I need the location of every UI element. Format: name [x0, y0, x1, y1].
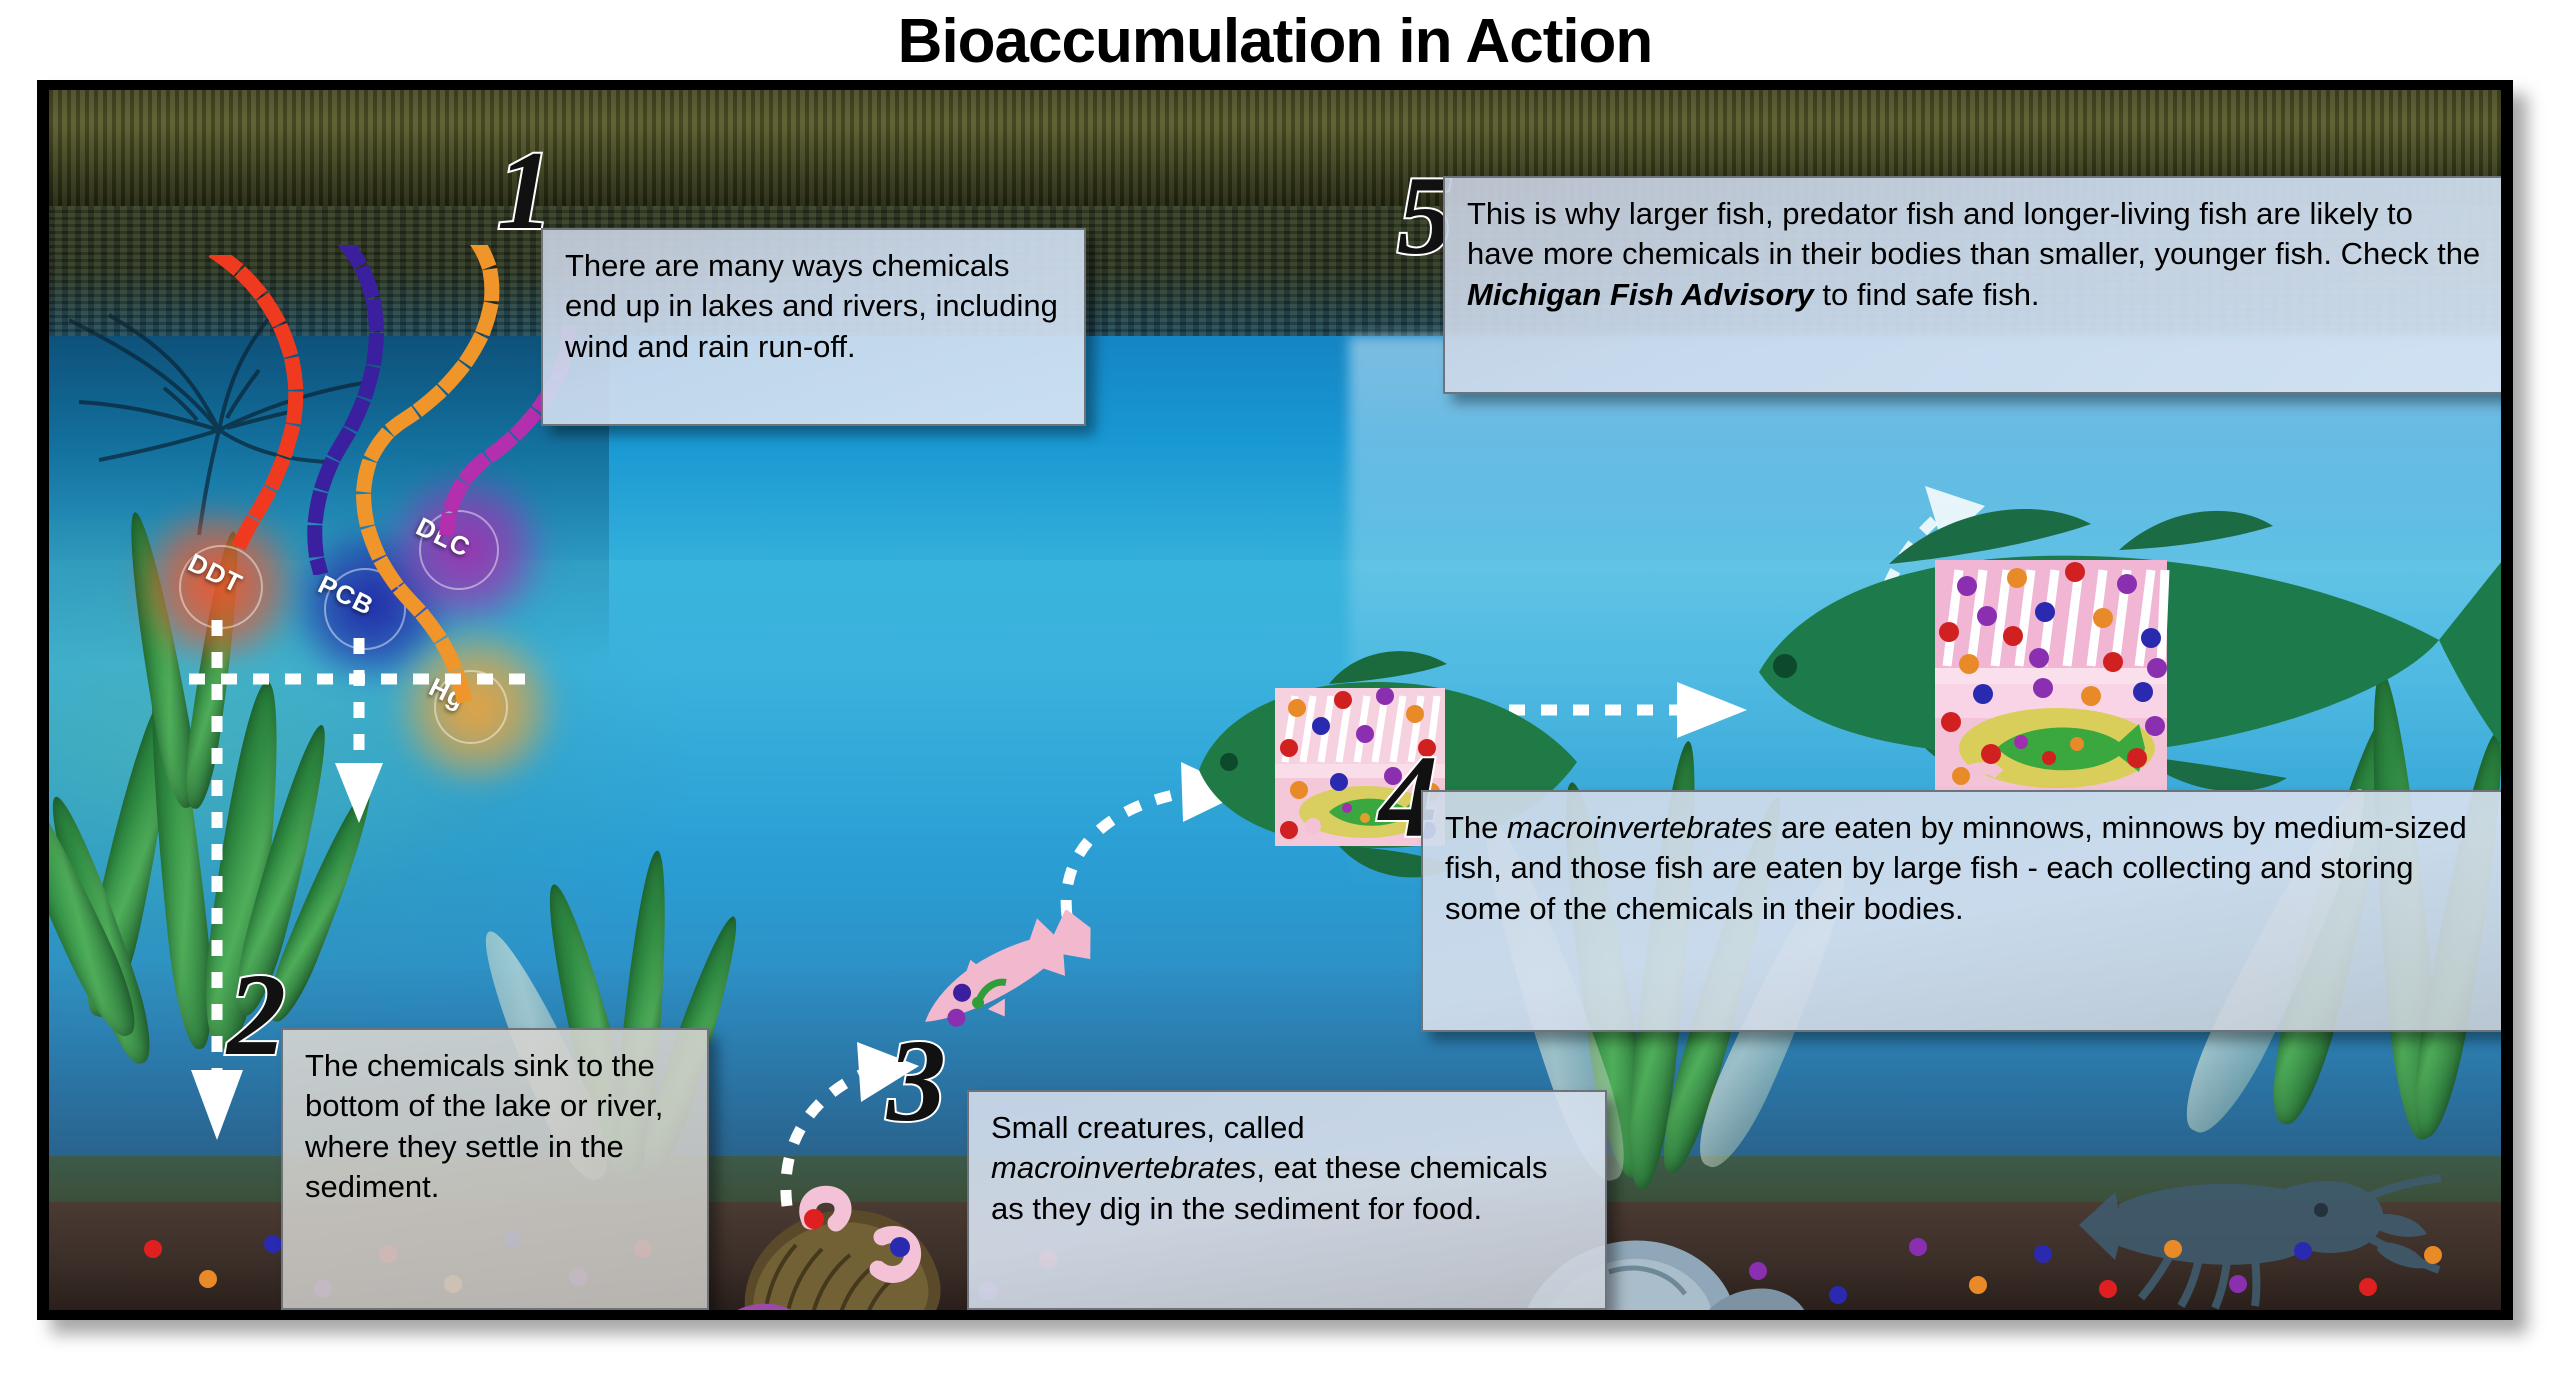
callout-step-3[interactable]: Small creatures, called macroinvertebrat…	[967, 1090, 1607, 1310]
callout-step-3-text-a: Small creatures, called	[991, 1110, 1305, 1145]
callout-step-5-text-a: This is why larger fish, predator fish a…	[1467, 196, 2480, 271]
underwater-scene: DDT PCB DLC Hg	[49, 90, 2501, 1310]
step-number-2: 2	[227, 956, 286, 1074]
callout-step-5-text-b: to find safe fish.	[1814, 277, 2040, 312]
callout-step-1-text: There are many ways chemicals end up in …	[565, 248, 1058, 364]
infographic-root: Bioaccumulation in Action	[0, 0, 2550, 1392]
callout-step-2[interactable]: The chemicals sink to the bottom of the …	[281, 1028, 709, 1310]
callout-step-2-text: The chemicals sink to the bottom of the …	[305, 1048, 663, 1204]
callout-step-5[interactable]: This is why larger fish, predator fish a…	[1443, 176, 2501, 394]
step-number-3: 3	[887, 1022, 946, 1140]
sinking-arrow-horizontal	[189, 662, 529, 696]
callout-step-1[interactable]: There are many ways chemicals end up in …	[541, 228, 1086, 426]
image-frame: DDT PCB DLC Hg	[37, 80, 2513, 1320]
callout-step-3-emphasis: macroinvertebrates	[991, 1150, 1256, 1185]
callout-step-4-emphasis: macroinvertebrates	[1507, 810, 1772, 845]
page-title: Bioaccumulation in Action	[0, 6, 2550, 78]
large-predator-fish-organism	[1739, 490, 2501, 830]
mussel-organism	[704, 1175, 964, 1310]
callout-step-5-emphasis: Michigan Fish Advisory	[1467, 277, 1814, 312]
callout-step-4-text-a: The	[1445, 810, 1507, 845]
callout-step-4[interactable]: The macroinvertebrates are eaten by minn…	[1421, 790, 2501, 1032]
